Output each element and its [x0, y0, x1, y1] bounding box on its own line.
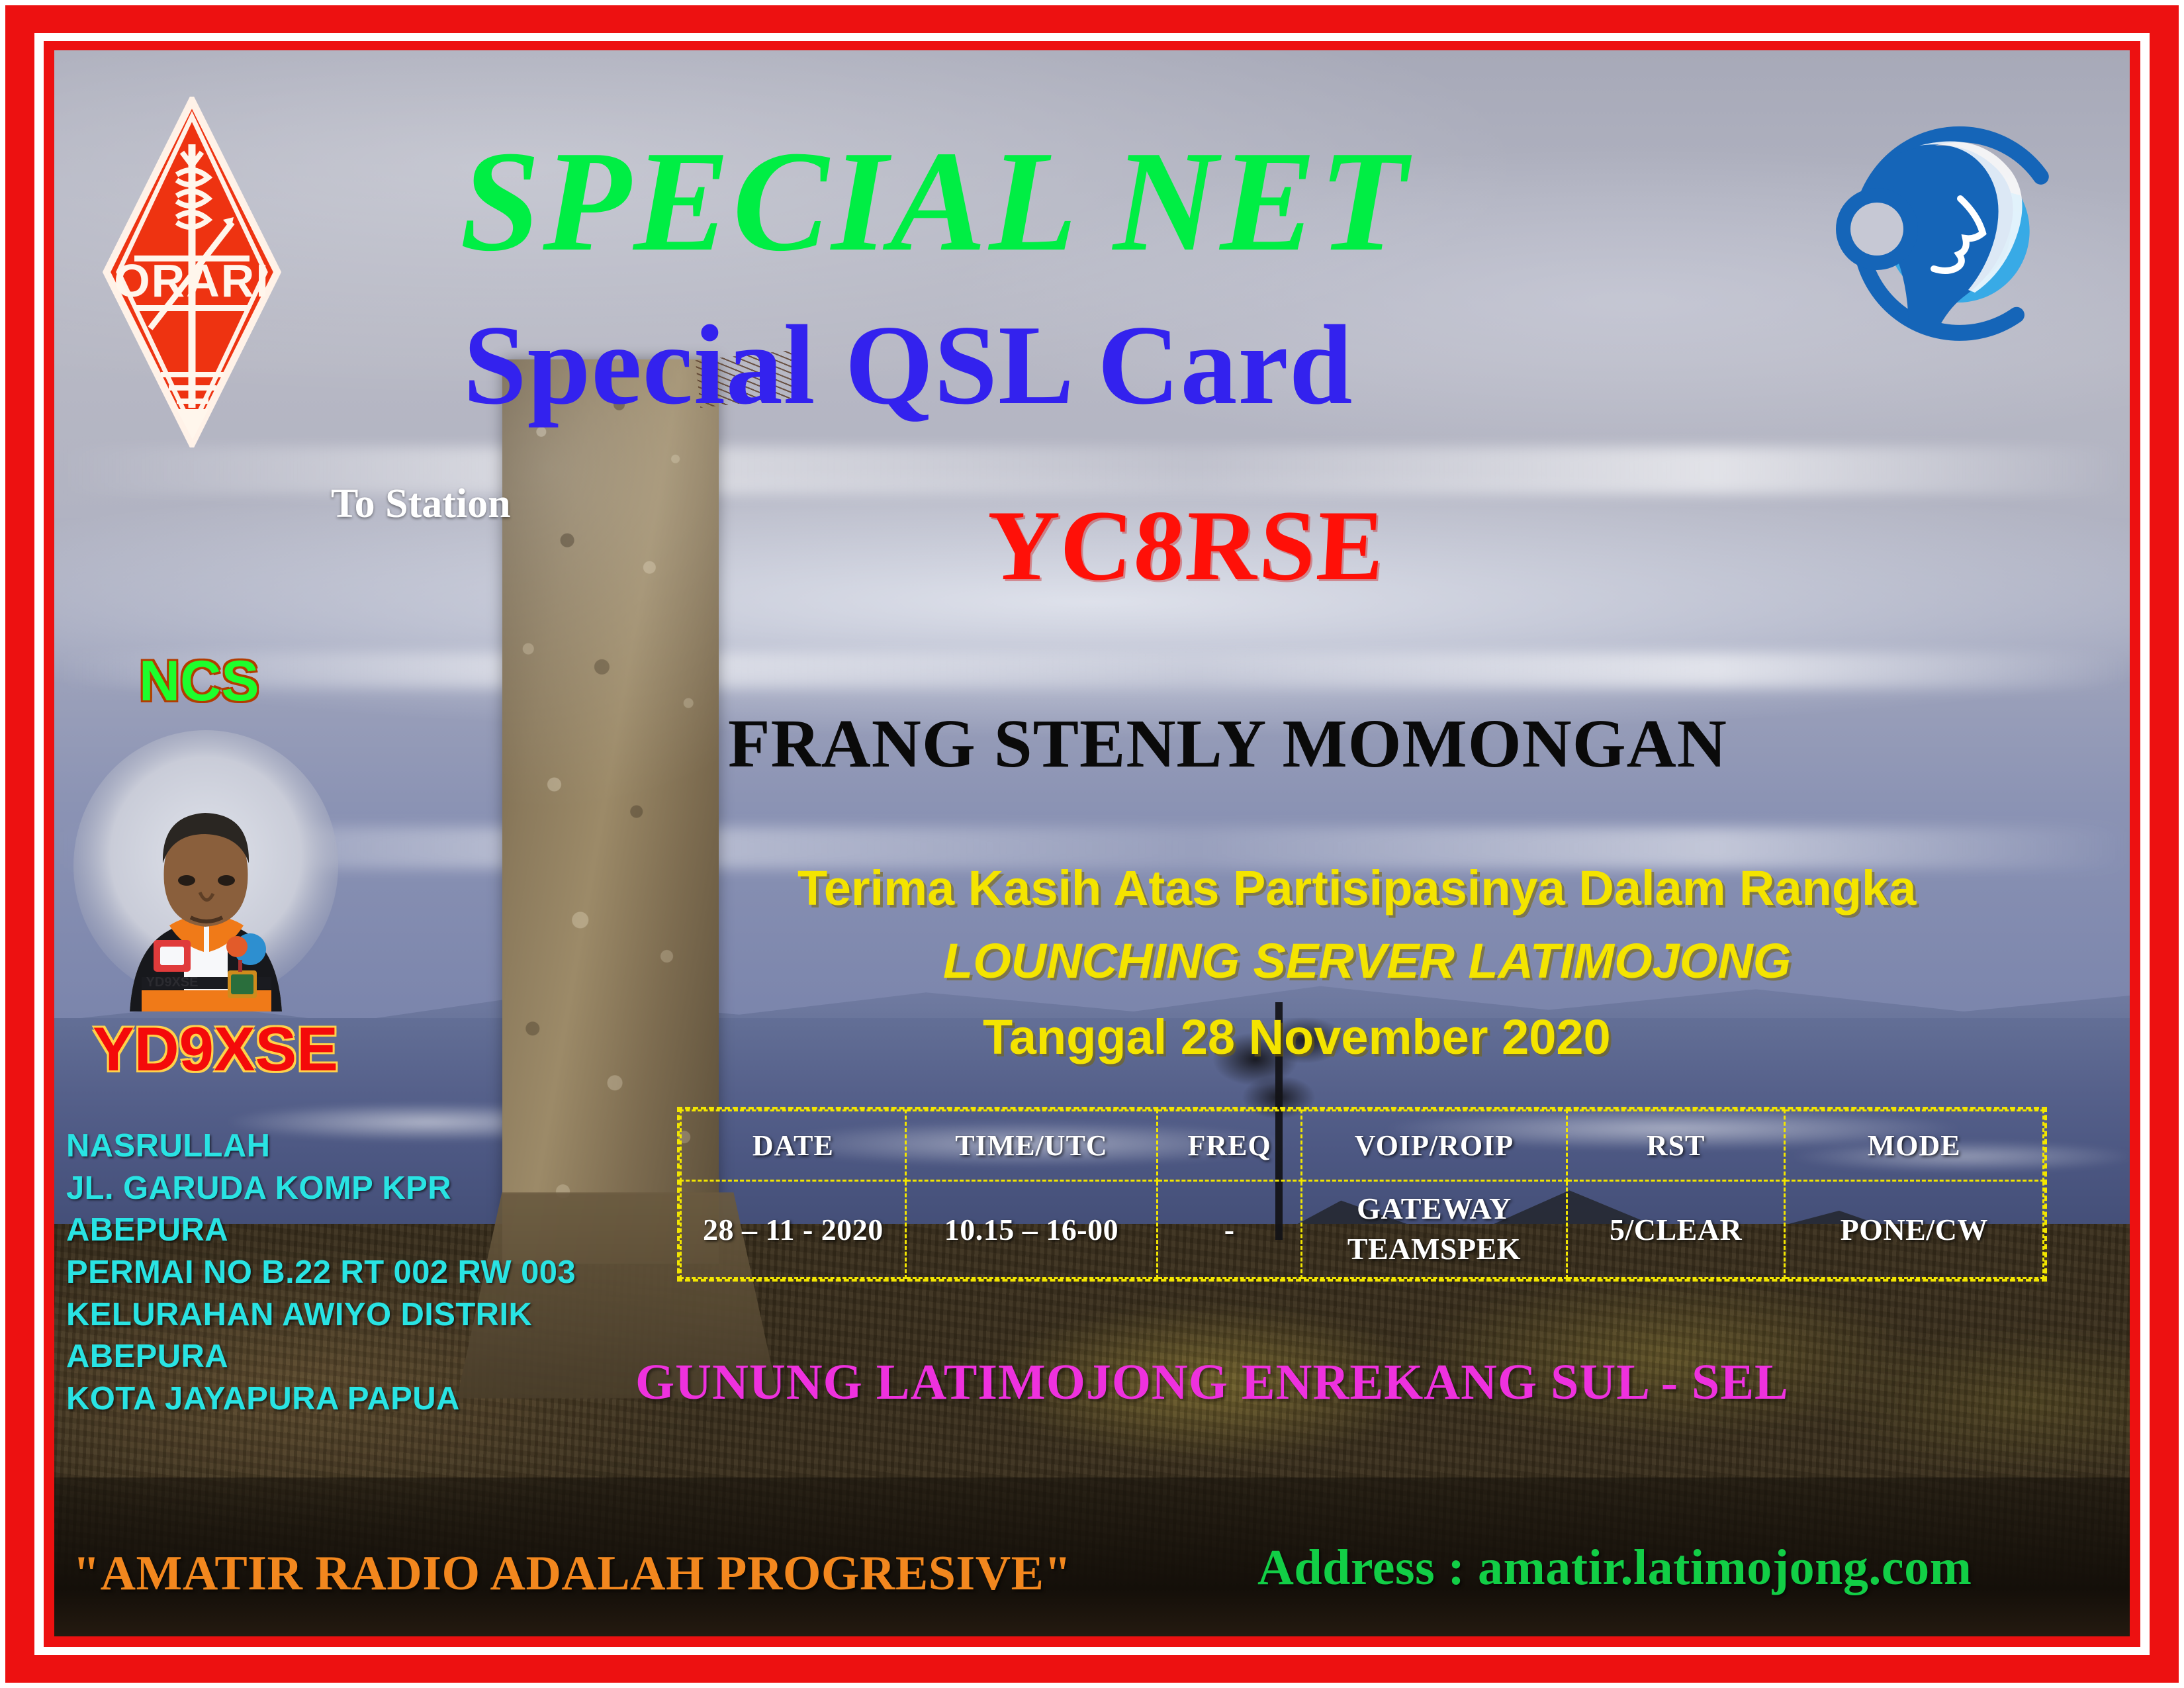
page-title: SPECIAL NET [460, 130, 1410, 274]
cell-voip-line2: TEAMSPEK [1303, 1229, 1565, 1270]
operator-name: FRANG STENLY MOMONGAN [728, 710, 1727, 778]
event-date: Tanggal 28 November 2020 [983, 1013, 1611, 1062]
headset-profile-logo [1820, 99, 2105, 364]
cloud-band [54, 653, 2130, 688]
page-subtitle: Special QSL Card [463, 308, 1353, 422]
address-block: NASRULLAH JL. GARUDA KOMP KPR ABEPURA PE… [66, 1125, 576, 1421]
operator-photo: YD9XSE [64, 727, 348, 1011]
event-title: LOUNCHING SERVER LATIMOJONG [943, 937, 1791, 986]
station-callsign: YC8RSE [983, 495, 1388, 596]
cell-time: 10.15 – 16-00 [905, 1181, 1157, 1278]
col-header-mode: MODE [1785, 1111, 2044, 1181]
col-header-voip: VOIP/ROIP [1302, 1111, 1567, 1181]
cell-voip: GATEWAY TEAMSPEK [1302, 1181, 1567, 1278]
qsl-card: ORARI SPECIAL NET Special QSL Card To St… [0, 0, 2184, 1688]
address-line: PERMAI NO B.22 RT 002 RW 003 [66, 1252, 576, 1294]
cell-date: 28 – 11 - 2020 [681, 1181, 906, 1278]
ncs-label: NCS [139, 653, 259, 710]
cell-freq: - [1158, 1181, 1302, 1278]
cell-mode: PONE/CW [1785, 1181, 2044, 1278]
address-line: KOTA JAYAPURA PAPUA [66, 1378, 576, 1421]
thanks-message: Terima Kasih Atas Partisipasinya Dalam R… [797, 864, 1916, 913]
address-line: ABEPURA [66, 1209, 576, 1252]
location-text: GUNUNG LATIMOJONG ENREKANG SUL - SEL [635, 1357, 1789, 1407]
ncs-callsign: YD9XSE [93, 1018, 338, 1080]
address-line: KELURAHAN AWIYO DISTRIK [66, 1294, 576, 1336]
col-header-rst: RST [1567, 1111, 1785, 1181]
footer-slogan: "AMATIR RADIO ADALAH PROGRESIVE" [73, 1549, 1071, 1598]
col-header-freq: FREQ [1158, 1111, 1302, 1181]
col-header-time: TIME/UTC [905, 1111, 1157, 1181]
svg-text:ORARI: ORARI [114, 255, 270, 306]
cell-rst: 5/CLEAR [1567, 1181, 1785, 1278]
qso-log-table: DATE TIME/UTC FREQ VOIP/ROIP RST MODE 28… [677, 1107, 2047, 1282]
address-line: JL. GARUDA KOMP KPR [66, 1168, 576, 1210]
address-line: NASRULLAH [66, 1125, 576, 1168]
col-header-date: DATE [681, 1111, 906, 1181]
footer-website: Address : amatir.latimojong.com [1257, 1542, 1972, 1593]
to-station-label: To Station [331, 483, 511, 524]
address-line: ABEPURA [66, 1336, 576, 1378]
table-row: 28 – 11 - 2020 10.15 – 16-00 - GATEWAY T… [681, 1181, 2044, 1278]
table-header-row: DATE TIME/UTC FREQ VOIP/ROIP RST MODE [681, 1111, 2044, 1181]
svg-text:YD9XSE: YD9XSE [146, 975, 199, 990]
orari-logo: ORARI [103, 97, 281, 447]
cell-voip-line1: GATEWAY [1303, 1189, 1565, 1229]
